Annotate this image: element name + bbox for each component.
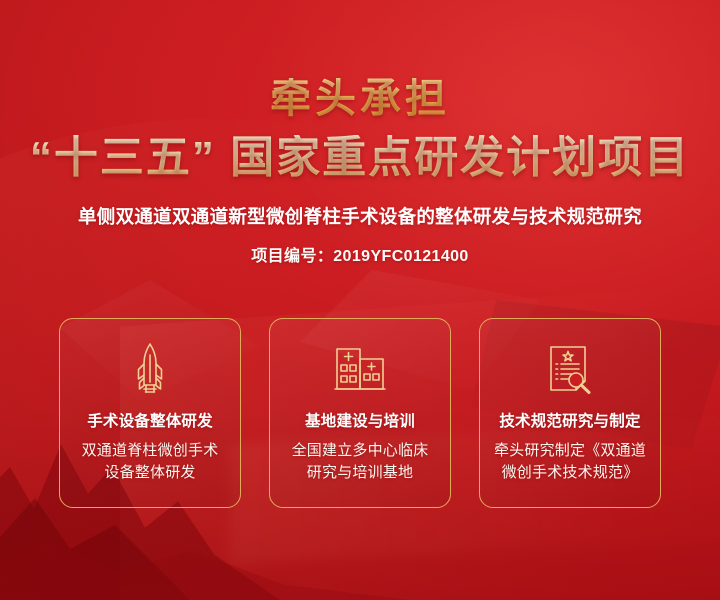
card-description: 全国建立多中心临床研究与培训基地 [275, 440, 445, 484]
highlight-card-list: 手术设备整体研发 双通道脊柱微创手术设备整体研发 [0, 318, 720, 508]
highlight-card[interactable]: 基地建设与培训 全国建立多中心临床研究与培训基地 [269, 318, 451, 508]
project-banner: 牵头承担 “十三五” 国家重点研发计划项目 单侧双通道双通道新型微创脊柱手术设备… [0, 0, 720, 600]
document-search-icon [545, 341, 595, 397]
card-title: 手术设备整体研发 [87, 409, 213, 431]
highlight-card[interactable]: 技术规范研究与制定 牵头研究制定《双通道微创手术技术规范》 [479, 318, 661, 508]
highlight-card[interactable]: 手术设备整体研发 双通道脊柱微创手术设备整体研发 [59, 318, 241, 508]
hospital-building-icon [332, 341, 388, 397]
project-subtitle: 单侧双通道双通道新型微创脊柱手术设备的整体研发与技术规范研究 [0, 203, 720, 229]
card-title: 基地建设与培训 [305, 409, 415, 431]
card-title: 技术规范研究与制定 [499, 409, 640, 431]
title-line-1: 牵头承担 [0, 78, 720, 119]
project-number: 项目编号：2019YFC0121400 [0, 242, 720, 266]
card-description: 牵头研究制定《双通道微创手术技术规范》 [485, 440, 655, 484]
card-description: 双通道脊柱微创手术设备整体研发 [65, 440, 235, 484]
rocket-icon [130, 341, 170, 397]
banner-header: 牵头承担 “十三五” 国家重点研发计划项目 单侧双通道双通道新型微创脊柱手术设备… [0, 0, 720, 266]
title-line-2: “十三五” 国家重点研发计划项目 [0, 135, 720, 181]
